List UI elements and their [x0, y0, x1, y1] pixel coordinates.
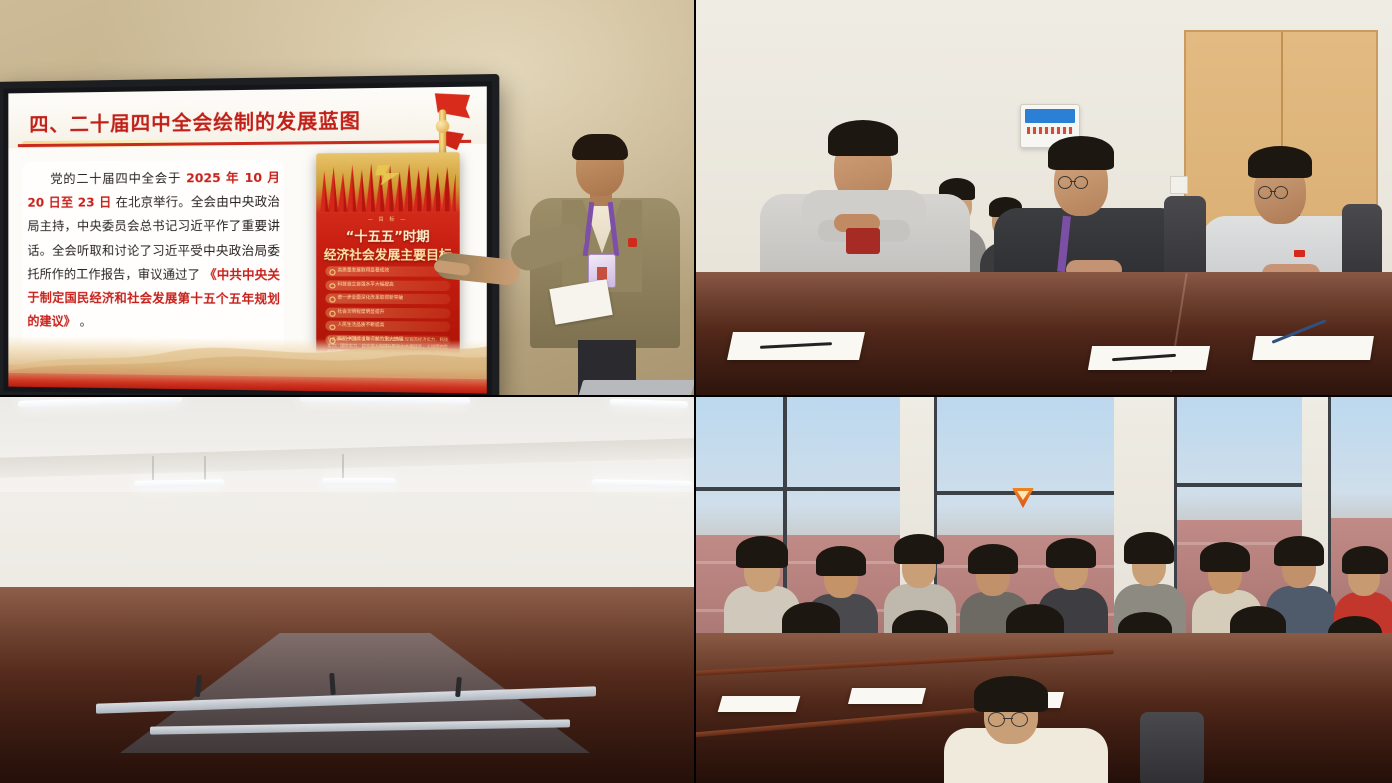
grid-divider-horizontal	[0, 395, 1392, 397]
light-drop-rod	[204, 456, 206, 482]
lecturer-hair	[572, 134, 628, 160]
poster-ribbon: — 目 标 —	[316, 215, 459, 222]
notepad	[848, 688, 926, 704]
poster-goal-item: 高质量发展取得显著成效	[325, 266, 450, 277]
lecturer-figure	[524, 134, 692, 396]
poster-goal-item: 社会文明程度明显提升	[325, 307, 450, 318]
poster-title-1: “十五五”时期	[316, 226, 459, 245]
poster-goal-item: 科技自立自强水平大幅提高	[325, 280, 450, 291]
panel-attendees-close	[694, 0, 1392, 396]
lanyard	[584, 202, 618, 256]
display-screen: 四、二十届四中全会绘制的发展蓝图 党的二十届四中全会于 2025 年 10 月 …	[8, 86, 486, 393]
chinese-flag-pin-icon	[1294, 250, 1305, 257]
light-drop-rod	[152, 456, 154, 480]
seg-0: 党的二十届四中全会于	[50, 170, 181, 186]
attendee-grey-hoodie	[760, 116, 970, 296]
poster-goal-item: 人民生活品质不断提高	[325, 321, 450, 332]
notepad	[1252, 336, 1374, 360]
panel-room-wide: 四、二十届四中全会绘制的发展蓝图 发展蓝图 / 战略布局	[0, 396, 694, 783]
laptop	[577, 380, 694, 396]
light-drop-rod	[342, 454, 344, 478]
panel-lecturer: 四、二十届四中全会绘制的发展蓝图 党的二十届四中全会于 2025 年 10 月 …	[0, 0, 694, 396]
seg-4: 。	[80, 314, 92, 329]
poster-goal-item: 进一步全面深化改革取得新突破	[325, 294, 450, 305]
slide-title: 四、二十届四中全会绘制的发展蓝图	[29, 104, 361, 137]
slide-body-text: 党的二十届四中全会于 2025 年 10 月 20 日至 23 日 在北京举行。…	[27, 166, 280, 336]
glasses-icon	[988, 712, 1028, 723]
table-reflection	[0, 587, 694, 783]
notepad	[718, 696, 801, 712]
hoodie-logo	[846, 228, 880, 254]
attendee-fg-left	[944, 676, 1104, 783]
mountain-wave-graphic	[8, 334, 486, 379]
presentation-display: 四、二十届四中全会绘制的发展蓝图 党的二十届四中全会于 2025 年 10 月 …	[0, 74, 499, 396]
glasses-icon	[1258, 186, 1288, 197]
led-light	[322, 478, 396, 485]
office-chair	[1140, 712, 1204, 783]
panel-audience-windows	[694, 396, 1392, 783]
grid-divider-vertical	[694, 0, 696, 783]
glasses-icon	[1058, 176, 1088, 187]
pointing-hand	[434, 250, 520, 290]
party-pin-icon	[628, 238, 637, 247]
photo-collage: 四、二十届四中全会绘制的发展蓝图 党的二十届四中全会于 2025 年 10 月 …	[0, 0, 1392, 783]
